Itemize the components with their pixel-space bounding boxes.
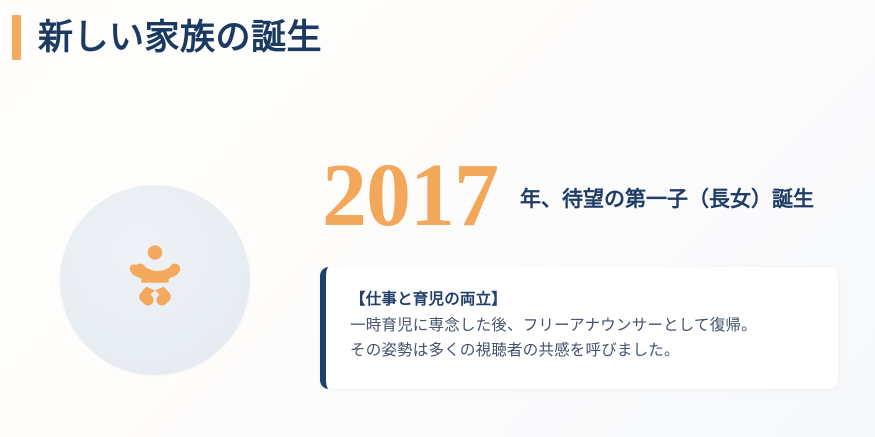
milestone-year: 2017 [322, 152, 498, 240]
page-heading: 新しい家族の誕生 [12, 15, 322, 60]
callout-heading: 【仕事と育児の両立】 [350, 288, 818, 313]
milestone-year-row: 2017 年、待望の第一子（長女）誕生 [322, 152, 814, 240]
callout-line-2: その姿勢は多くの視聴者の共感を呼びました。 [350, 338, 818, 363]
page-title: 新しい家族の誕生 [38, 20, 322, 55]
heading-accent-bar [12, 15, 21, 60]
callout-line-1: 一時育児に専念した後、フリーアナウンサーとして復帰。 [350, 313, 818, 338]
icon-medallion [60, 185, 250, 375]
baby-icon [118, 243, 192, 317]
detail-callout-card: 【仕事と育児の両立】 一時育児に専念した後、フリーアナウンサーとして復帰。 その… [320, 267, 838, 389]
slide-canvas: 新しい家族の誕生 2017 年、待望の第一子（長女）誕生 【仕事と育児の両立】 … [0, 0, 875, 437]
milestone-caption: 年、待望の第一子（長女）誕生 [520, 177, 814, 215]
